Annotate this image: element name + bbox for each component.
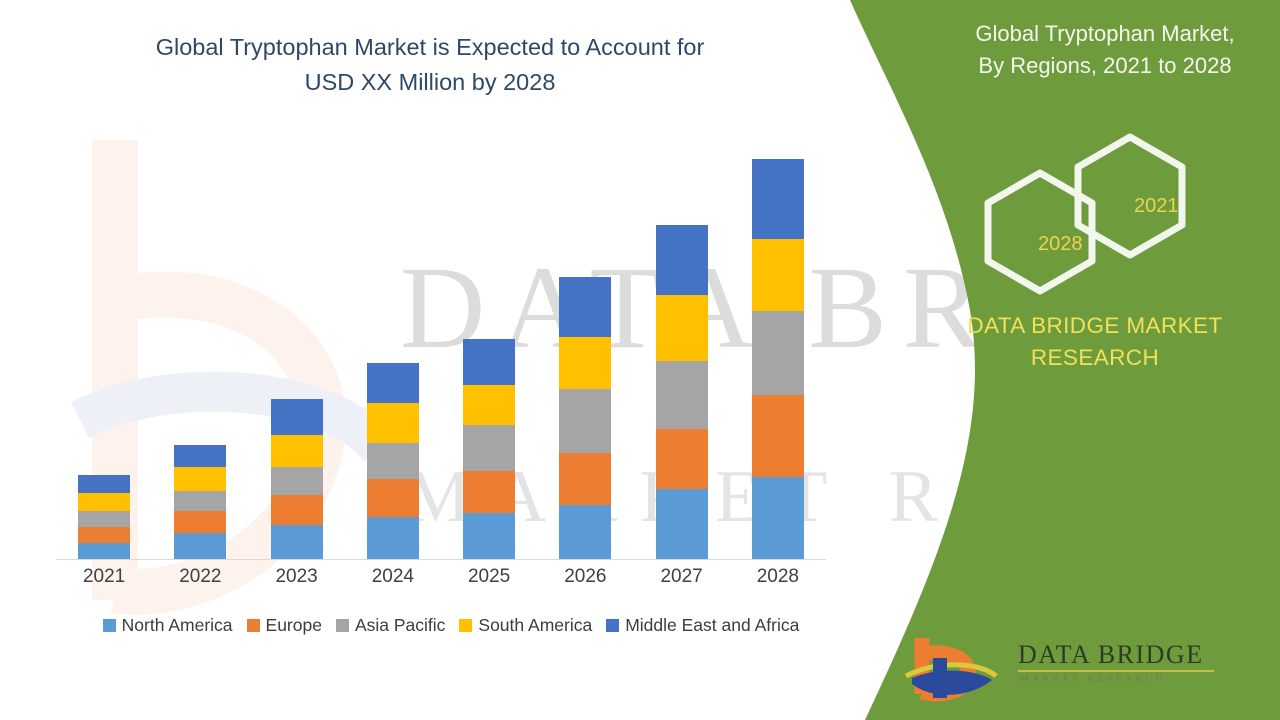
bar-segment[interactable]: [78, 493, 130, 511]
bar-segment[interactable]: [271, 399, 323, 435]
bar-slot-2025: [441, 160, 537, 559]
bar-segment[interactable]: [656, 489, 708, 559]
x-axis-tick-2028: 2028: [730, 566, 826, 588]
bar-segment[interactable]: [271, 525, 323, 559]
legend-item[interactable]: Middle East and Africa: [606, 615, 799, 636]
chart-legend: North AmericaEuropeAsia PacificSouth Ame…: [56, 615, 846, 636]
legend-swatch-icon: [336, 619, 349, 632]
bar-segment[interactable]: [463, 425, 515, 471]
bar-segment[interactable]: [271, 467, 323, 495]
bar-segment[interactable]: [174, 467, 226, 491]
bar-slot-2024: [345, 160, 441, 559]
legend-swatch-icon: [103, 619, 116, 632]
stacked-bar[interactable]: [78, 475, 130, 559]
bar-segment[interactable]: [752, 395, 804, 477]
legend-item[interactable]: Europe: [247, 615, 322, 636]
bar-segment[interactable]: [752, 159, 804, 239]
stacked-bar[interactable]: [463, 339, 515, 559]
stacked-bar[interactable]: [752, 159, 804, 559]
stacked-bar[interactable]: [656, 225, 708, 559]
legend-item[interactable]: South America: [459, 615, 592, 636]
bar-segment[interactable]: [78, 543, 130, 559]
bar-segment[interactable]: [78, 511, 130, 527]
bar-segment[interactable]: [174, 511, 226, 533]
bar-segment[interactable]: [367, 363, 419, 403]
bar-segment[interactable]: [656, 225, 708, 295]
legend-item[interactable]: North America: [103, 615, 233, 636]
x-axis-tick-2024: 2024: [345, 566, 441, 588]
bar-segment[interactable]: [559, 505, 611, 559]
bar-segment[interactable]: [752, 239, 804, 311]
bar-slot-2021: [56, 160, 152, 559]
brand-panel: Global Tryptophan Market, By Regions, 20…: [820, 0, 1280, 720]
bar-segment[interactable]: [367, 403, 419, 443]
legend-label: Asia Pacific: [355, 615, 445, 636]
bar-segment[interactable]: [463, 339, 515, 385]
bar-segment[interactable]: [559, 453, 611, 505]
bar-segment[interactable]: [656, 295, 708, 361]
bar-segment[interactable]: [463, 513, 515, 559]
bar-segment[interactable]: [752, 477, 804, 559]
bar-slot-2027: [634, 160, 730, 559]
bar-segment[interactable]: [559, 389, 611, 453]
x-axis-tick-2022: 2022: [152, 566, 248, 588]
x-axis-tick-2027: 2027: [634, 566, 730, 588]
bar-segment[interactable]: [656, 429, 708, 489]
bar-segment[interactable]: [174, 491, 226, 511]
bar-segment[interactable]: [559, 277, 611, 337]
bar-segment[interactable]: [78, 475, 130, 493]
bar-slot-2026: [537, 160, 633, 559]
legend-label: North America: [122, 615, 233, 636]
chart-title-line-2: USD XX Million by 2028: [60, 65, 800, 100]
bar-segment[interactable]: [271, 495, 323, 525]
bar-segment[interactable]: [78, 527, 130, 543]
x-axis-line: [56, 559, 826, 560]
bar-segment[interactable]: [752, 311, 804, 395]
bar-segment[interactable]: [656, 361, 708, 429]
stacked-bar[interactable]: [559, 277, 611, 559]
x-axis-tick-2021: 2021: [56, 566, 152, 588]
bar-segment[interactable]: [463, 385, 515, 425]
legend-swatch-icon: [606, 619, 619, 632]
bar-group: [56, 160, 826, 559]
chart-title-line-1: Global Tryptophan Market is Expected to …: [60, 30, 800, 65]
legend-swatch-icon: [247, 619, 260, 632]
bar-slot-2022: [152, 160, 248, 559]
chart-title: Global Tryptophan Market is Expected to …: [60, 30, 800, 100]
bar-segment[interactable]: [174, 445, 226, 467]
x-axis-labels: 20212022202320242025202620272028: [56, 566, 826, 588]
legend-label: Middle East and Africa: [625, 615, 799, 636]
x-axis-tick-2026: 2026: [537, 566, 633, 588]
stacked-bar[interactable]: [174, 445, 226, 559]
bar-segment[interactable]: [559, 337, 611, 389]
infographic-slide: DATA BRIDGE MARKET RESEARCH Global Trypt…: [0, 0, 1280, 720]
bar-segment[interactable]: [463, 471, 515, 513]
stacked-bar[interactable]: [367, 363, 419, 559]
legend-label: South America: [478, 615, 592, 636]
x-axis-tick-2025: 2025: [441, 566, 537, 588]
bar-slot-2023: [249, 160, 345, 559]
legend-item[interactable]: Asia Pacific: [336, 615, 445, 636]
bar-segment[interactable]: [367, 443, 419, 479]
legend-swatch-icon: [459, 619, 472, 632]
chart-plot-area: [56, 160, 826, 560]
bar-slot-2028: [730, 160, 826, 559]
bar-segment[interactable]: [367, 479, 419, 517]
bar-segment[interactable]: [174, 533, 226, 559]
green-curved-background: [820, 0, 1280, 720]
bar-segment[interactable]: [271, 435, 323, 467]
stacked-bar[interactable]: [271, 399, 323, 559]
x-axis-tick-2023: 2023: [249, 566, 345, 588]
legend-label: Europe: [266, 615, 322, 636]
bar-segment[interactable]: [367, 517, 419, 559]
